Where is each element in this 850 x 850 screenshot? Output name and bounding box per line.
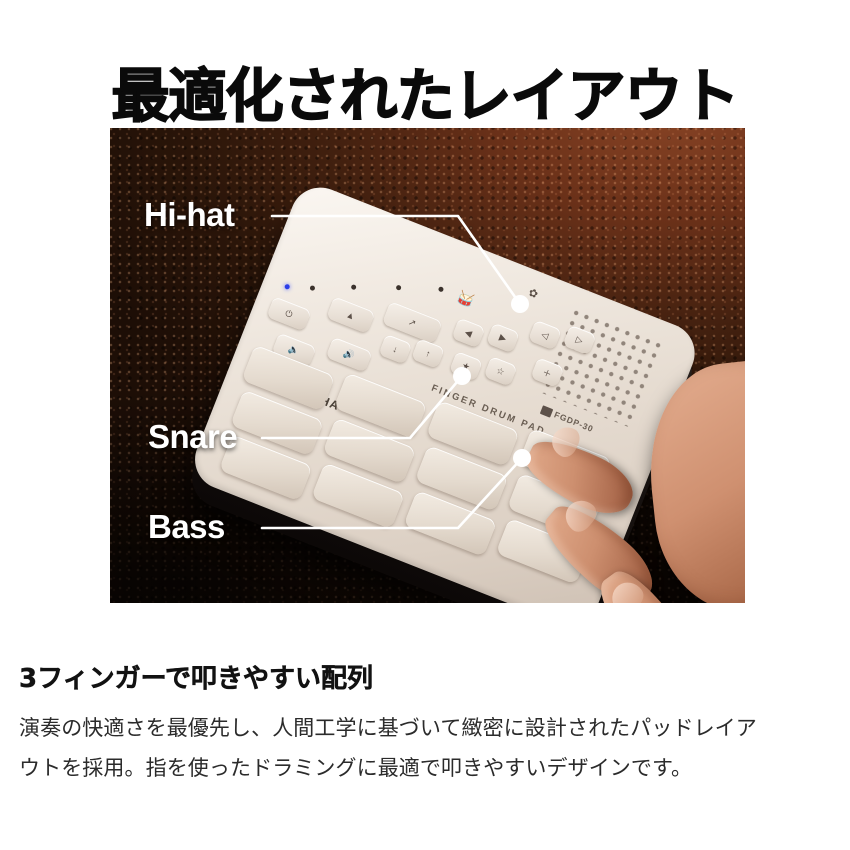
- volume-up-icon: 🔊: [342, 347, 356, 361]
- body-line-1: 演奏の快適さを最優先し、人間工学に基づいて緻密に設計されたパッドレイア: [19, 708, 779, 748]
- drum-kit-icon: ▲: [345, 309, 357, 322]
- section-subheading: 3フィンガーで叩きやすい配列: [19, 662, 373, 696]
- status-led-2: [350, 284, 356, 290]
- product-feature-page: 最適化されたレイアウト FGDP-30: [0, 0, 850, 850]
- arrow-up-icon: ↑: [424, 348, 432, 359]
- star-button-2[interactable]: ☆: [483, 356, 517, 387]
- status-led-3: [395, 284, 401, 290]
- prev-button[interactable]: ◀: [451, 318, 485, 349]
- body-line-2: ウトを採用。指を使ったドラミングに最適で叩きやすいデザインです。: [19, 748, 779, 788]
- play-icon: ▶: [498, 332, 508, 345]
- arrow-down-icon: ↓: [391, 344, 399, 355]
- next-icon: ◁: [540, 329, 550, 342]
- palm: [639, 353, 745, 603]
- play-button[interactable]: ▶: [486, 323, 520, 354]
- callout-label-snare: Snare: [148, 420, 237, 453]
- hand-playing-pads: [548, 352, 745, 603]
- product-photo: FGDP-30 ⏻ 🔈 ▲ 🔊: [110, 128, 745, 603]
- kit-icon-button: 🥁: [450, 286, 481, 312]
- power-led-indicator: [284, 284, 290, 290]
- star-button-1[interactable]: ★: [449, 351, 483, 382]
- status-led-4: [438, 286, 444, 292]
- page-title: 最適化されたレイアウト: [0, 61, 850, 131]
- prev-icon: ◀: [463, 326, 473, 339]
- section-body-text: 演奏の快適さを最優先し、人間工学に基づいて緻密に設計されたパッドレイア ウトを採…: [19, 708, 779, 788]
- kit-select-button[interactable]: ▲: [326, 296, 375, 334]
- gear-top-button: ✿: [521, 282, 545, 304]
- gear-icon: ▷: [574, 334, 584, 347]
- star-icon: ★: [460, 360, 472, 373]
- status-led-1: [309, 285, 315, 291]
- arrow-down-button[interactable]: ↓: [378, 334, 412, 365]
- volume-up-button[interactable]: 🔊: [326, 337, 373, 373]
- volume-down-icon: 🔈: [287, 343, 301, 357]
- power-button[interactable]: ⏻: [266, 296, 311, 331]
- drum-kit-icon: 🥁: [455, 289, 476, 310]
- arrow-up-button[interactable]: ↑: [411, 338, 445, 369]
- callout-label-bass: Bass: [148, 510, 225, 543]
- next-button[interactable]: ◁: [528, 320, 562, 351]
- star-icon: ☆: [495, 365, 507, 378]
- gear-icon: ✿: [527, 285, 540, 300]
- callout-label-hi-hat: Hi-hat: [144, 198, 235, 231]
- metronome-icon: ↗: [407, 316, 418, 329]
- power-icon: ⏻: [284, 307, 295, 320]
